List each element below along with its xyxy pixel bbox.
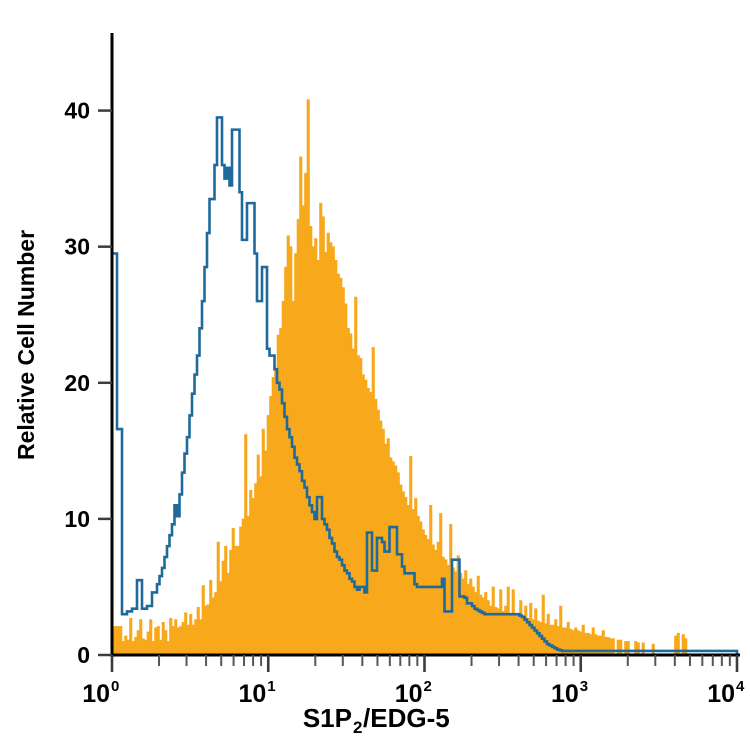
- x-tick-base-4: 10: [707, 680, 735, 708]
- x-tick-exp-1: 1: [267, 678, 275, 695]
- flow-cytometry-histogram-figure: 010203040 100101102103104 Relative Cell …: [0, 0, 750, 750]
- x-tick-base-1: 10: [238, 680, 266, 708]
- y-axis-title: Relative Cell Number: [13, 230, 39, 460]
- x-axis-title-rest: /EDG-5: [363, 703, 450, 733]
- x-tick-exp-0: 0: [111, 678, 119, 695]
- y-tick-label-30: 30: [64, 234, 90, 260]
- y-tick-label-20: 20: [64, 370, 90, 396]
- x-tick-exp-3: 3: [580, 678, 588, 695]
- y-tick-label-0: 0: [77, 642, 90, 668]
- chart-canvas: 010203040 100101102103104 Relative Cell …: [0, 0, 750, 750]
- x-tick-exp-4: 4: [736, 678, 745, 695]
- x-tick-base-3: 10: [551, 680, 579, 708]
- x-axis-title-main: S1P: [303, 703, 352, 733]
- x-tick-exp-2: 2: [424, 678, 432, 695]
- x-axis-title: S1P 2 /EDG-5: [303, 703, 450, 737]
- y-tick-label-40: 40: [64, 98, 90, 124]
- x-tick-base-0: 10: [82, 680, 110, 708]
- x-axis-title-subscript: 2: [353, 718, 362, 737]
- y-tick-label-10: 10: [64, 506, 90, 532]
